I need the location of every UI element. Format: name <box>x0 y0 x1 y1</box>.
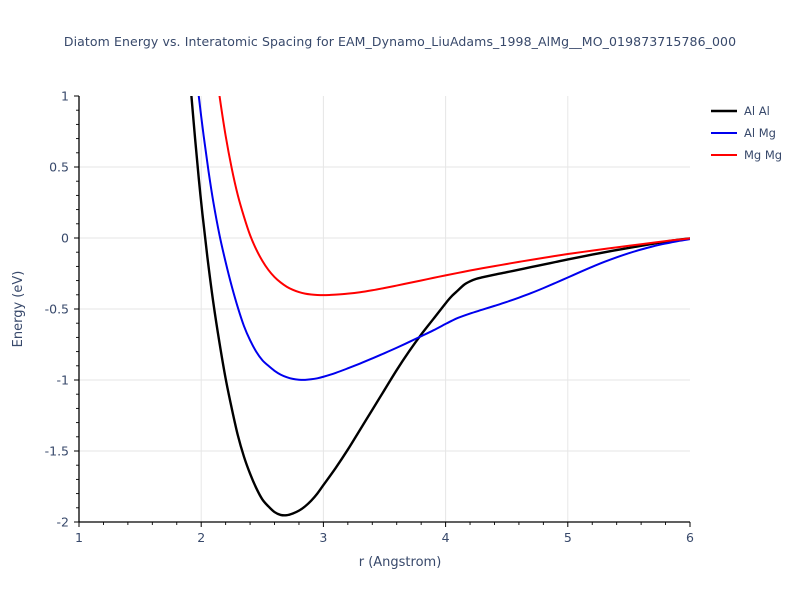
legend-label-mg-mg: Mg Mg <box>744 148 782 162</box>
legend-label-al-mg: Al Mg <box>744 126 776 140</box>
y-axis-label: Energy (eV) <box>11 271 26 348</box>
y-tick-label: 1 <box>61 89 69 104</box>
series-line-al-mg <box>195 61 690 380</box>
x-tick-label: 2 <box>197 530 205 545</box>
legend-label-al-al: Al Al <box>744 104 770 118</box>
x-tick-label: 4 <box>442 530 450 545</box>
x-tick-label: 3 <box>319 530 327 545</box>
y-axis-tick-labels: 10.50-0.5-1-1.5-2 <box>45 89 69 530</box>
y-tick-label: -0.5 <box>45 302 69 317</box>
plot-canvas: 123456 10.50-0.5-1-1.5-2 r (Angstrom) En… <box>0 0 800 600</box>
series-line-al-al <box>189 68 690 516</box>
x-tick-label: 1 <box>75 530 83 545</box>
x-axis-ticks <box>79 522 690 527</box>
y-tick-label: -1.5 <box>45 444 69 459</box>
y-tick-label: 0.5 <box>49 160 69 175</box>
x-axis-tick-labels: 123456 <box>75 530 694 545</box>
legend: Al AlAl MgMg Mg <box>711 104 782 162</box>
y-tick-label: -1 <box>57 373 69 388</box>
data-series-group <box>189 61 690 516</box>
y-axis-ticks <box>74 96 79 522</box>
x-tick-label: 5 <box>564 530 572 545</box>
diatom-energy-figure: Diatom Energy vs. Interatomic Spacing fo… <box>0 0 800 600</box>
x-axis-label: r (Angstrom) <box>359 555 442 570</box>
series-line-mg-mg <box>216 68 690 295</box>
y-tick-label: -2 <box>57 515 69 530</box>
y-tick-label: 0 <box>61 231 69 246</box>
grid-lines <box>79 96 690 522</box>
x-tick-label: 6 <box>686 530 694 545</box>
page-title: Diatom Energy vs. Interatomic Spacing fo… <box>0 34 800 49</box>
